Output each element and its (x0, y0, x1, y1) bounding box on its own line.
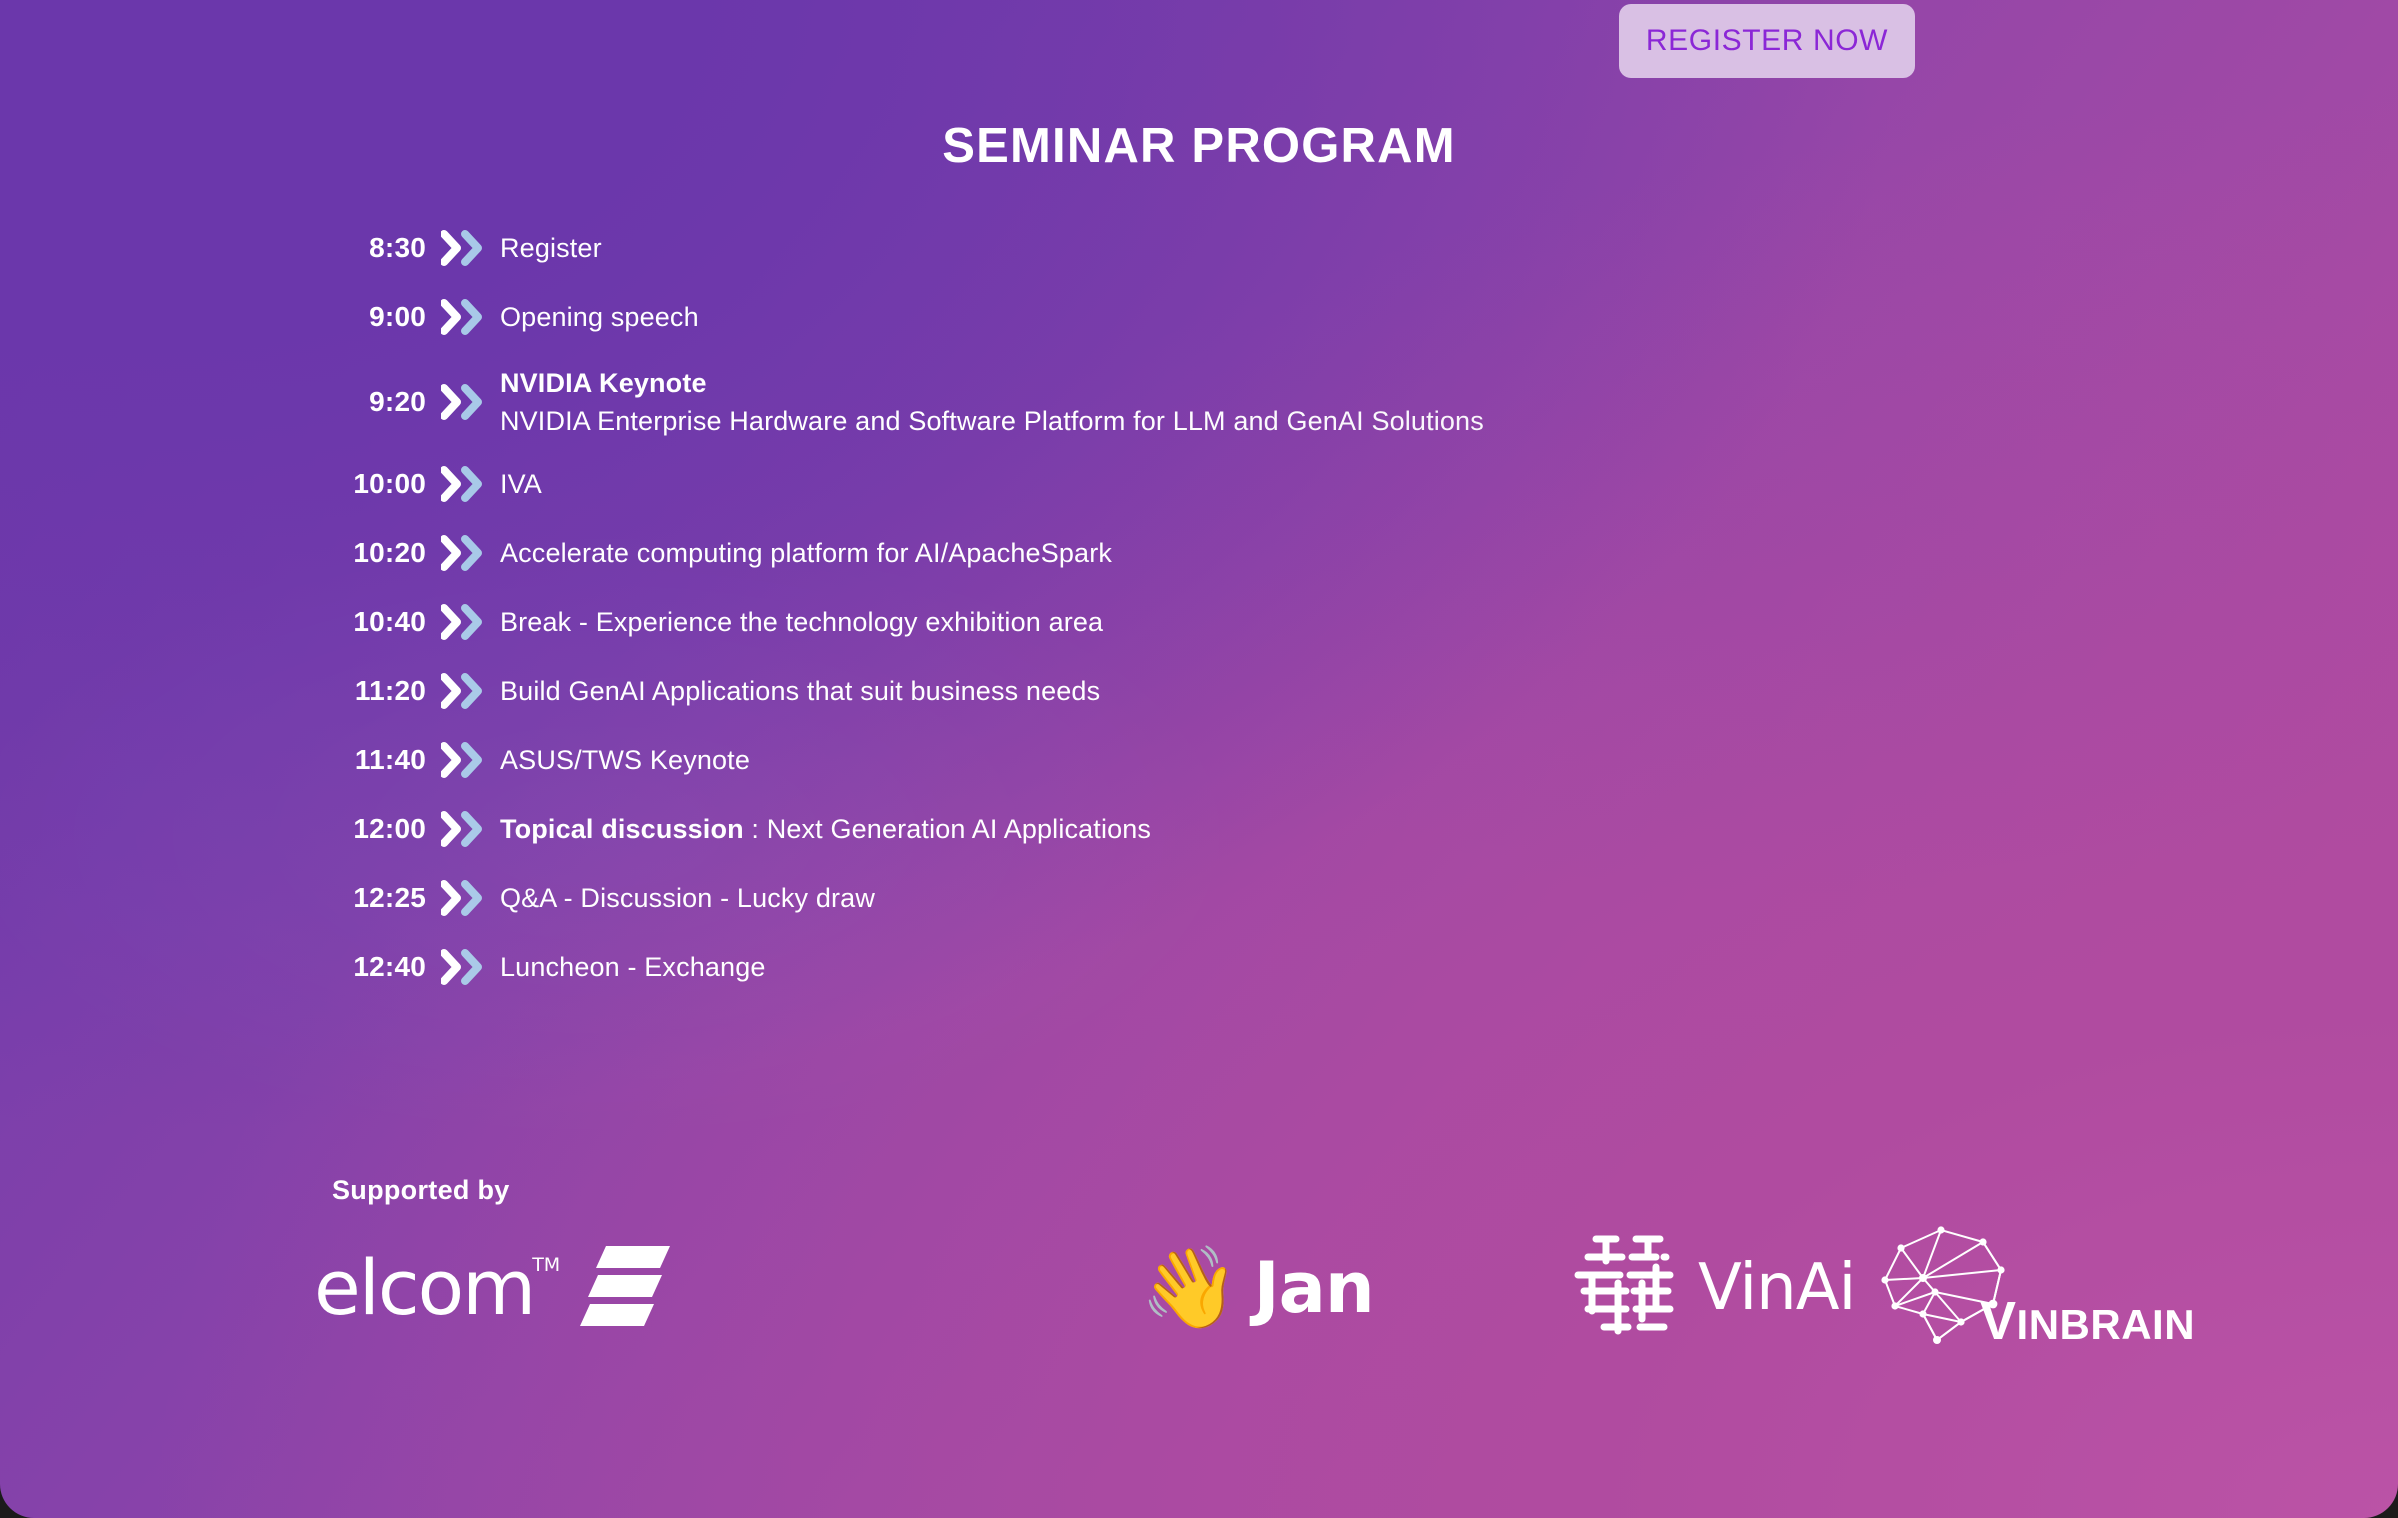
schedule-time: 11:40 (333, 745, 426, 776)
schedule-description-title: NVIDIA Keynote (500, 364, 1484, 402)
schedule-row: 10:00 IVA (333, 458, 2133, 510)
schedule-time: 12:40 (333, 952, 426, 983)
double-chevron-icon (426, 949, 500, 985)
schedule-description: Register (500, 229, 602, 267)
schedule-time: 9:20 (333, 387, 426, 418)
vinai-wordmark: VinAi (1698, 1251, 1855, 1325)
elcom-e-mark-icon (576, 1240, 672, 1337)
double-chevron-icon (426, 673, 500, 709)
supported-by-label: Supported by (332, 1175, 510, 1206)
schedule-description: Luncheon - Exchange (500, 948, 766, 986)
schedule-time: 11:20 (333, 676, 426, 707)
schedule-row: 9:20 NVIDIA Keynote NVIDIA Enterprise Ha… (333, 360, 2133, 444)
trademark-symbol: TM (532, 1256, 560, 1275)
sponsor-logos: elcomTM 👋 Jan (300, 1218, 2150, 1358)
double-chevron-icon (426, 384, 500, 420)
double-chevron-icon (426, 230, 500, 266)
schedule-description: Build GenAI Applications that suit busin… (500, 672, 1100, 710)
schedule-row: 12:40 Luncheon - Exchange (333, 941, 2133, 993)
schedule-row: 11:40 ASUS/TWS Keynote (333, 734, 2133, 786)
elcom-wordmark: elcomTM (314, 1250, 534, 1326)
schedule-description: Q&A - Discussion - Lucky draw (500, 879, 875, 917)
schedule-row: 12:00 Topical discussion : Next Generati… (333, 803, 2133, 855)
jan-wordmark: Jan (1254, 1247, 1374, 1329)
vinbrain-rest: INBRAIN (2017, 1301, 2196, 1348)
schedule-description: Break - Experience the technology exhibi… (500, 603, 1103, 641)
vinai-circuit-icon (1570, 1227, 1682, 1350)
schedule-time: 10:20 (333, 538, 426, 569)
double-chevron-icon (426, 466, 500, 502)
schedule-list: 8:30 Register 9:00 Opening speech 9: (333, 222, 2133, 1010)
schedule-time: 10:00 (333, 469, 426, 500)
sponsor-logo-jan: 👋 Jan (1140, 1218, 1374, 1358)
schedule-row: 12:25 Q&A - Discussion - Lucky draw (333, 872, 2133, 924)
schedule-time: 12:00 (333, 814, 426, 845)
register-now-button[interactable]: REGISTER NOW (1619, 4, 1915, 78)
double-chevron-icon (426, 811, 500, 847)
schedule-row: 8:30 Register (333, 222, 2133, 274)
schedule-description: Opening speech (500, 298, 699, 336)
schedule-description-title: Topical discussion (500, 814, 744, 844)
double-chevron-icon (426, 742, 500, 778)
double-chevron-icon (426, 535, 500, 571)
double-chevron-icon (426, 880, 500, 916)
sponsor-logo-vinai: VinAi (1570, 1218, 1855, 1358)
schedule-description-detail: NVIDIA Enterprise Hardware and Software … (500, 402, 1484, 440)
schedule-description: Topical discussion : Next Generation AI … (500, 810, 1151, 848)
schedule-description: IVA (500, 465, 542, 503)
schedule-row: 10:40 Break - Experience the technology … (333, 596, 2133, 648)
schedule-description: ASUS/TWS Keynote (500, 741, 750, 779)
schedule-description-detail: : Next Generation AI Applications (744, 814, 1151, 844)
double-chevron-icon (426, 299, 500, 335)
schedule-description: NVIDIA Keynote NVIDIA Enterprise Hardwar… (500, 364, 1484, 441)
schedule-time: 12:25 (333, 883, 426, 914)
schedule-row: 10:20 Accelerate computing platform for … (333, 527, 2133, 579)
double-chevron-icon (426, 604, 500, 640)
page-title: SEMINAR PROGRAM (0, 118, 2398, 174)
schedule-time: 9:00 (333, 302, 426, 333)
schedule-description: Accelerate computing platform for AI/Apa… (500, 534, 1112, 572)
schedule-time: 10:40 (333, 607, 426, 638)
sponsor-logo-elcom: elcomTM (314, 1218, 672, 1358)
schedule-time: 8:30 (333, 233, 426, 264)
schedule-row: 9:00 Opening speech (333, 291, 2133, 343)
vinbrain-initial: V (1980, 1291, 2017, 1351)
vinbrain-wordmark: VINBRAIN (1980, 1290, 2195, 1352)
waving-hand-emoji-icon: 👋 (1140, 1248, 1240, 1328)
seminar-program-slide: REGISTER NOW SEMINAR PROGRAM 8:30 Regist… (0, 0, 2398, 1518)
schedule-row: 11:20 Build GenAI Applications that suit… (333, 665, 2133, 717)
sponsor-logo-vinbrain: VINBRAIN (1865, 1218, 2195, 1358)
